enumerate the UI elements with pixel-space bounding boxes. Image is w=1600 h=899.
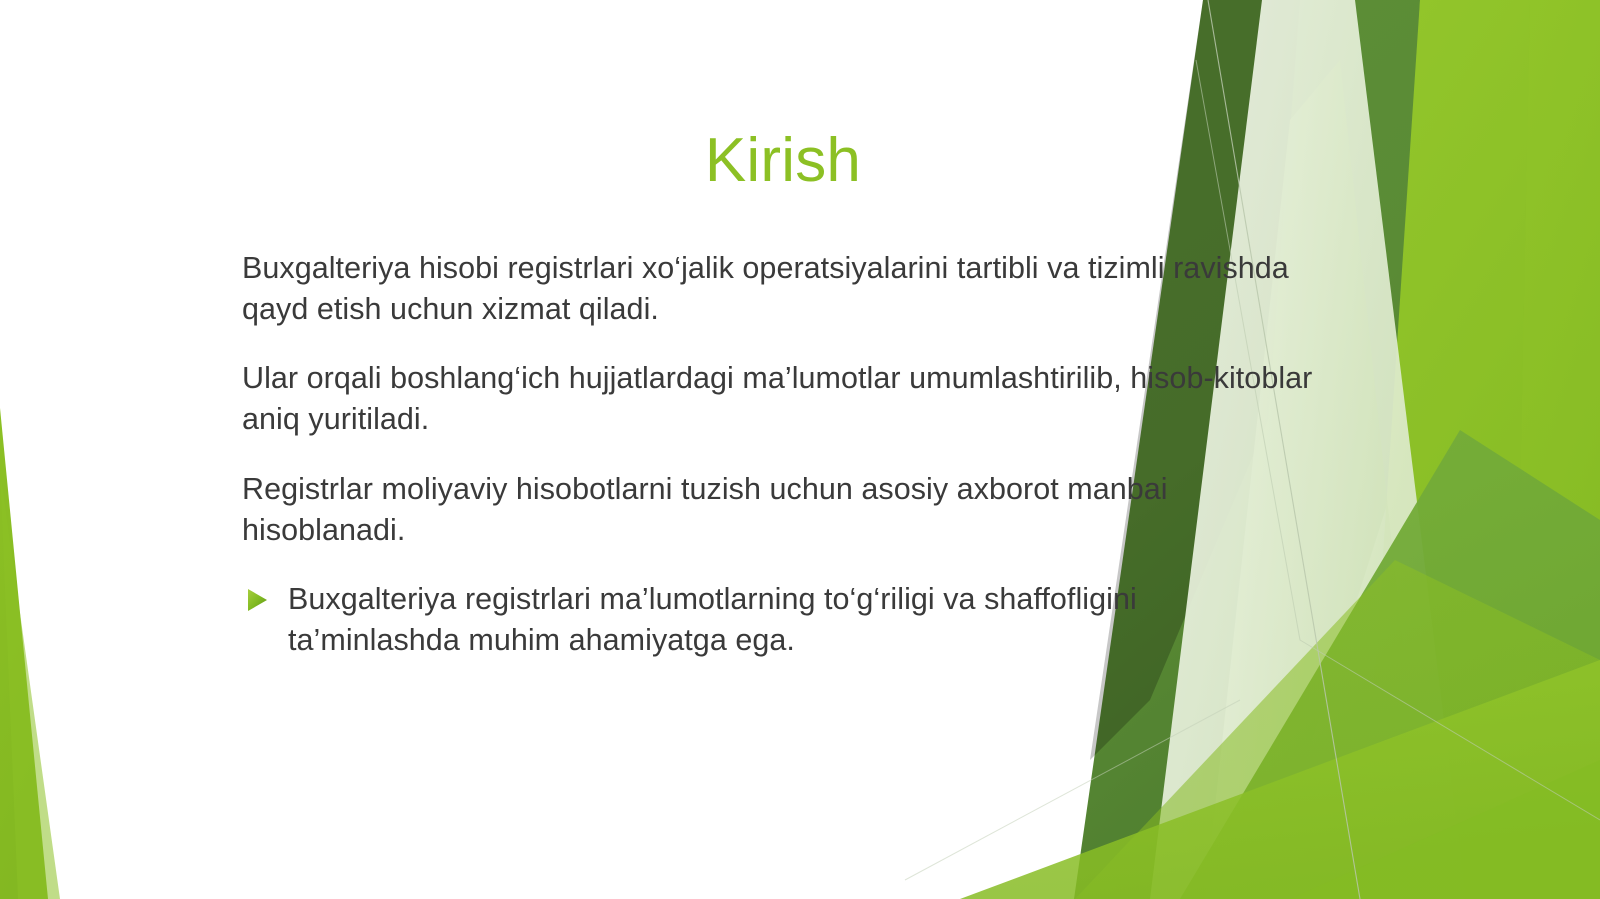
bullet-item-label: Buxgalteriya registrlari ma’lumotlarning… (288, 579, 1317, 660)
slide-title: Kirish (0, 126, 1566, 195)
body-paragraph: Buxgalteriya hisobi registrlari xo‘jalik… (242, 248, 1317, 329)
body-paragraph: Registrlar moliyaviy hisobotlarni tuzish… (242, 469, 1317, 550)
slide-body: Buxgalteriya hisobi registrlari xo‘jalik… (242, 248, 1317, 661)
body-paragraph: Ular orqali boshlang‘ich hujjatlardagi m… (242, 358, 1317, 439)
bullet-list-item: Buxgalteriya registrlari ma’lumotlarning… (242, 579, 1317, 660)
triangle-right-bullet-icon (246, 588, 268, 612)
presentation-slide: Kirish Buxgalteriya hisobi registrlari x… (0, 0, 1600, 899)
